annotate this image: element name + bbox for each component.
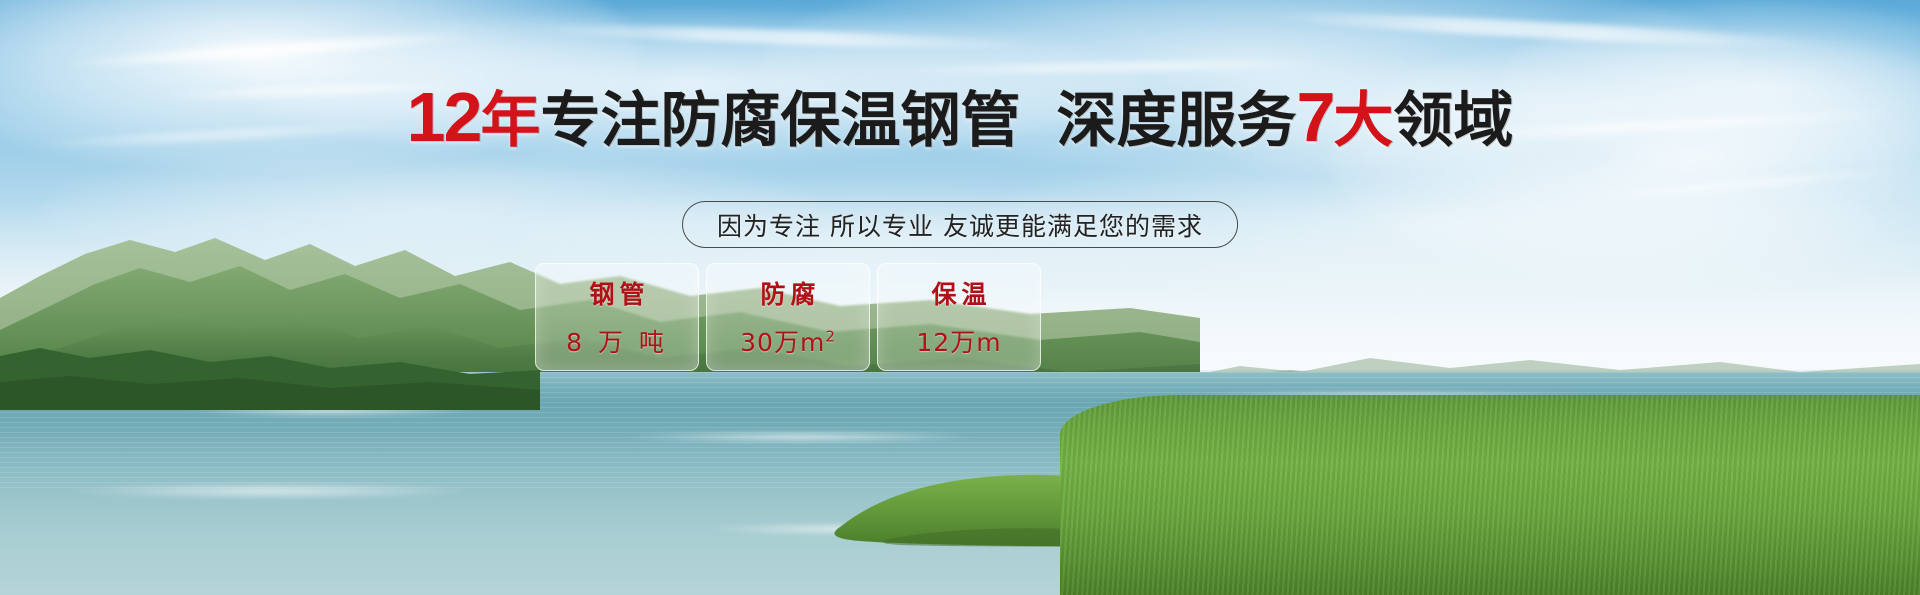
stat-card-value: 30万m2 xyxy=(740,323,836,359)
stat-card-title: 防腐 xyxy=(755,275,820,311)
stat-card-group: 钢管 8 万 吨 防腐 30万m2 保温 12万m xyxy=(535,263,1041,371)
stat-card-steel-pipe[interactable]: 钢管 8 万 吨 xyxy=(535,263,699,371)
headline-number-fields: 7 xyxy=(1296,78,1333,156)
headline-number-years: 12 xyxy=(407,78,481,156)
stat-value-text: 12万m xyxy=(916,328,1001,357)
subtitle-pill: 因为专注 所以专业 友诚更能满足您的需求 xyxy=(682,201,1238,248)
stat-card-title: 保温 xyxy=(926,275,991,311)
headline-part-two: 深度服务 xyxy=(1056,86,1296,156)
stat-card-value: 12万m xyxy=(916,323,1001,359)
subtitle-text: 因为专注 所以专业 友诚更能满足您的需求 xyxy=(717,207,1203,243)
stat-value-text: 30万m xyxy=(740,328,825,357)
stat-value-text: 8 万 吨 xyxy=(566,328,668,357)
headline-unit-years: 年 xyxy=(480,86,540,156)
headline-unit-fields: 大 xyxy=(1333,86,1393,156)
page-title: 12年专注防腐保温钢管深度服务7大领域 xyxy=(0,82,1920,152)
stat-card-insulation[interactable]: 保温 12万m xyxy=(877,263,1041,371)
banner-content: 12年专注防腐保温钢管深度服务7大领域 因为专注 所以专业 友诚更能满足您的需求… xyxy=(0,0,1920,595)
stat-card-value: 8 万 吨 xyxy=(566,323,668,359)
hero-banner: 12年专注防腐保温钢管深度服务7大领域 因为专注 所以专业 友诚更能满足您的需求… xyxy=(0,0,1920,595)
stat-card-title: 钢管 xyxy=(584,275,649,311)
headline-part-one: 专注防腐保温钢管 xyxy=(540,86,1020,156)
stat-value-superscript: 2 xyxy=(825,328,836,346)
headline-part-three: 领域 xyxy=(1393,86,1513,156)
stat-card-anticorrosion[interactable]: 防腐 30万m2 xyxy=(706,263,870,371)
